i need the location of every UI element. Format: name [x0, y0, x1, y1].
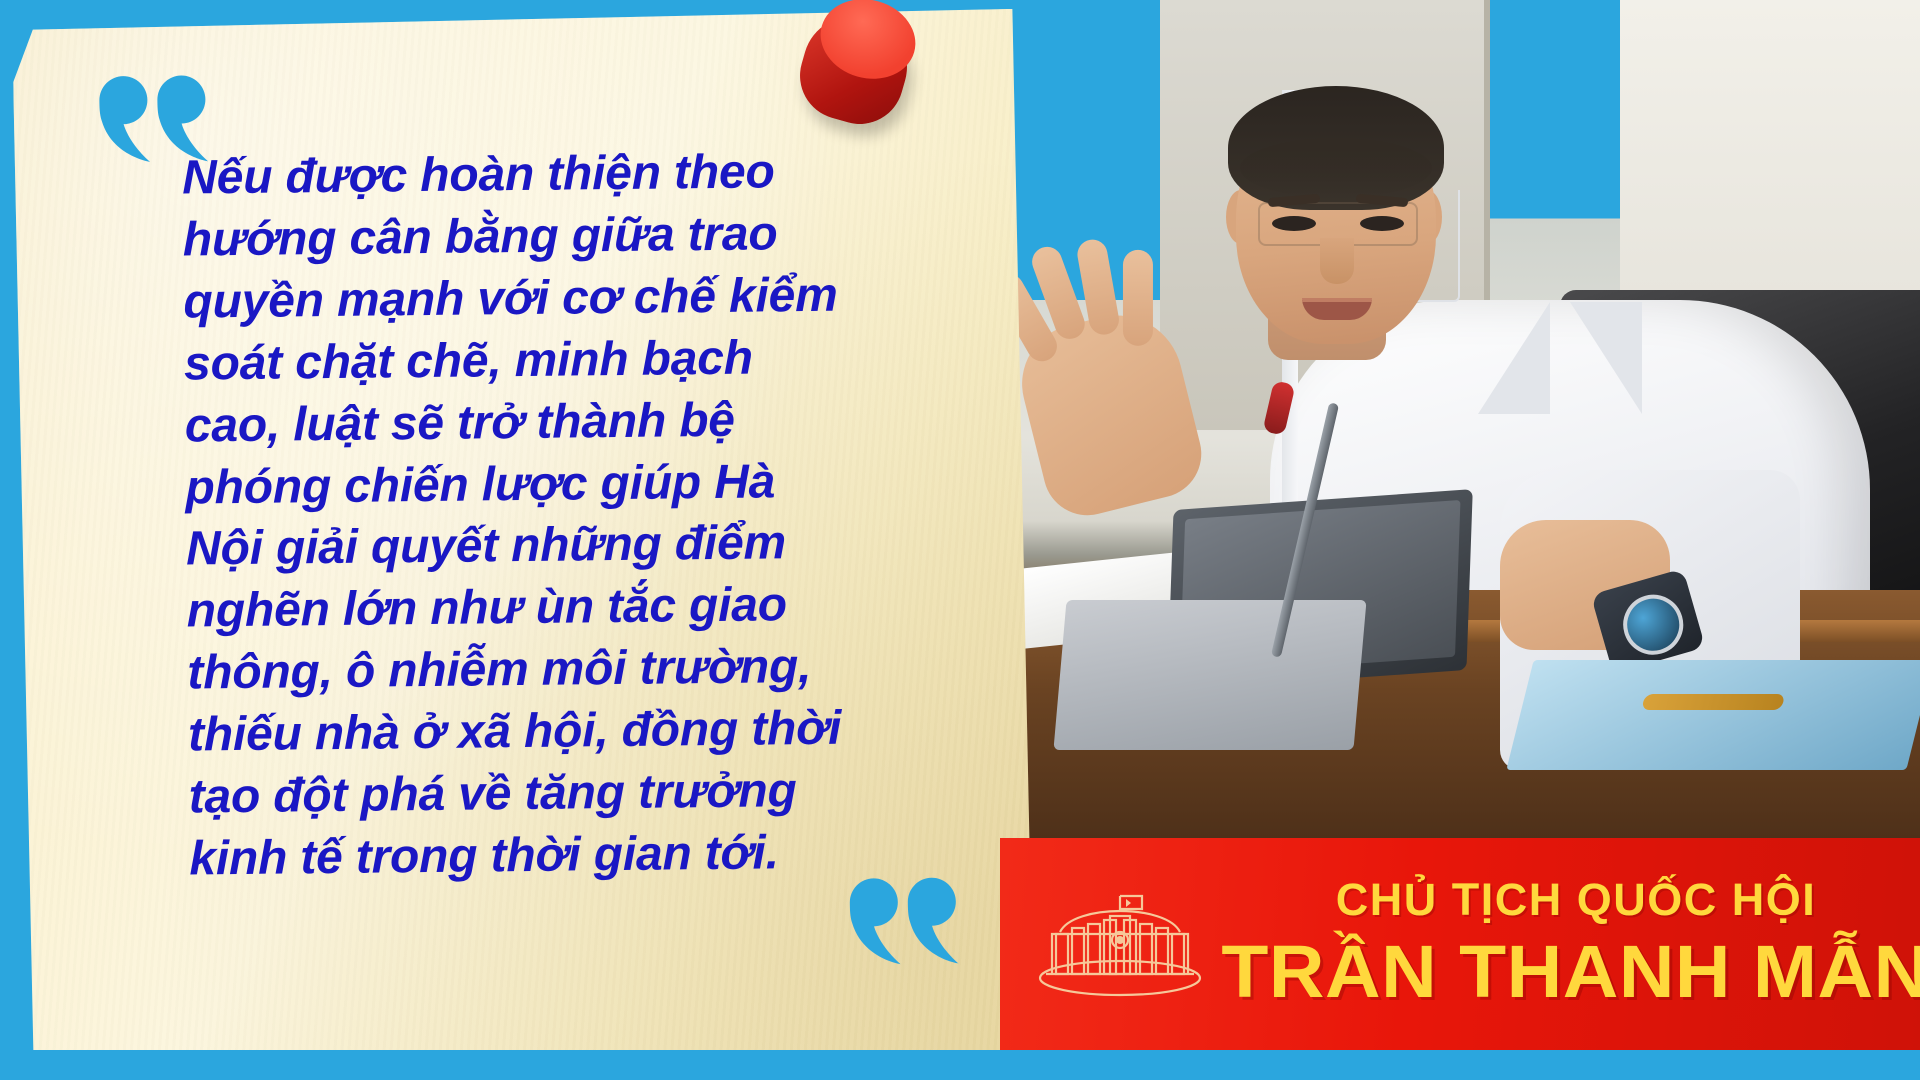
speaker-photo — [1000, 0, 1920, 840]
quote-line: soát chặt chẽ, minh bạch — [184, 326, 895, 395]
quote-text-block: Nếu được hoàn thiện theo hướng cân bằng … — [182, 140, 900, 890]
close-quote-mark-icon — [842, 871, 963, 982]
photo-collar-right — [1570, 302, 1642, 414]
quote-line: quyền mạnh với cơ chế kiểm — [183, 264, 894, 333]
push-pin-icon — [792, 0, 918, 122]
poster-canvas: Nếu được hoàn thiện theo hướng cân bằng … — [0, 0, 1920, 1080]
photo-eye-left — [1272, 216, 1316, 231]
photo-eye-right — [1360, 216, 1404, 231]
quote-line: phóng chiến lược giúp Hà — [185, 450, 896, 519]
photo-nose — [1320, 238, 1354, 284]
quote-paper-note: Nếu được hoàn thiện theo hướng cân bằng … — [13, 9, 1034, 1070]
photo-hair — [1228, 86, 1444, 210]
quote-line: tạo đột phá về tăng trưởng — [188, 759, 899, 828]
photo-mouth — [1302, 298, 1372, 320]
quote-line: nghẽn lớn như ùn tắc giao — [186, 573, 897, 642]
banner-text-block: CHỦ TỊCH QUỐC HỘI TRẦN THANH MẪN — [1232, 876, 1920, 1011]
bottom-accent-strip — [0, 1050, 1920, 1080]
banner-person-name: TRẦN THANH MẪN — [1222, 932, 1920, 1012]
quote-line: thiếu nhà ở xã hội, đồng thời — [188, 697, 899, 766]
photo-finger-4 — [1123, 250, 1153, 346]
name-banner: CHỦ TỊCH QUỐC HỘI TRẦN THANH MẪN — [1000, 838, 1920, 1050]
quote-line: thông, ô nhiễm môi trường, — [187, 635, 898, 704]
banner-role-label: CHỦ TỊCH QUỐC HỘI — [1336, 876, 1817, 923]
photo-desk-device — [1053, 600, 1366, 750]
quote-line: cao, luật sẽ trở thành bệ — [184, 388, 895, 457]
national-assembly-building-emblem-icon — [1034, 882, 1206, 1006]
quote-line: hướng cân bằng giữa trao — [183, 202, 894, 271]
quote-line: Nội giải quyết những điểm — [186, 512, 897, 581]
quote-line: kinh tế trong thời gian tới. — [189, 821, 900, 890]
photo-document-folder — [1506, 660, 1920, 770]
photo-collar-left — [1478, 302, 1550, 414]
quote-line: Nếu được hoàn thiện theo — [182, 140, 893, 209]
